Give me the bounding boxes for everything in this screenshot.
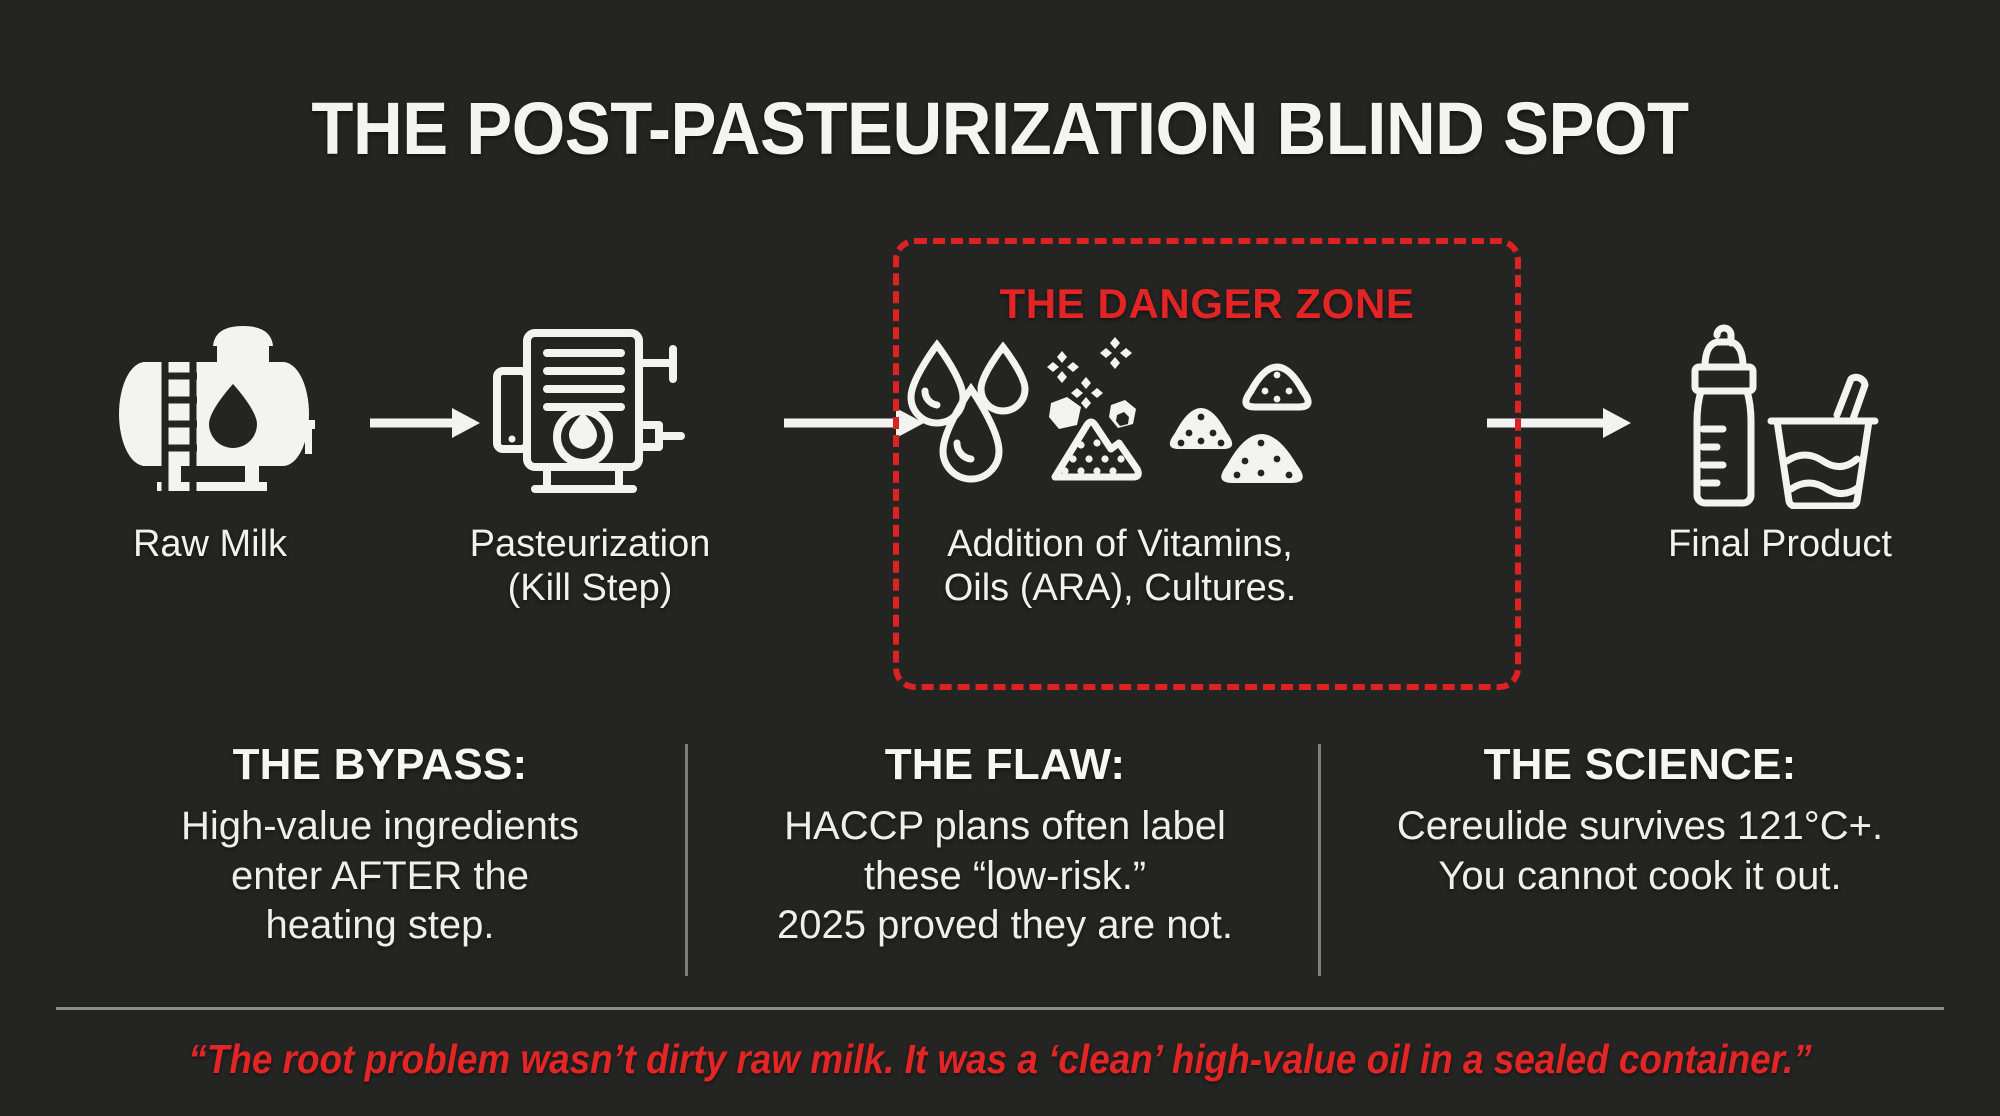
callout-divider	[685, 744, 688, 976]
callout-heading: THE SCIENCE:	[1340, 740, 1940, 790]
flow-step-label: Raw Milk	[60, 522, 360, 566]
pasteurizer-icon	[440, 314, 740, 504]
milk-tank-icon	[60, 314, 360, 504]
callout-body: Cereulide survives 121°C+. You cannot co…	[1340, 802, 1940, 901]
callout-science: THE SCIENCE: Cereulide survives 121°C+. …	[1340, 740, 1940, 901]
flow-step-raw-milk: Raw Milk	[60, 314, 360, 566]
footer-quote: “The root problem wasn’t dirty raw milk.…	[100, 1036, 1900, 1083]
danger-zone-title: THE DANGER ZONE	[893, 280, 1521, 328]
flow-step-final-product: Final Product	[1630, 314, 1930, 566]
flow-step-label: Final Product	[1630, 522, 1930, 566]
page-title: THE POST-PASTEURIZATION BLIND SPOT	[70, 86, 1930, 171]
callout-body: HACCP plans often label these “low-risk.…	[700, 802, 1310, 951]
flow-step-pasteurization: Pasteurization (Kill Step)	[440, 314, 740, 610]
callout-row: THE BYPASS: High-value ingredients enter…	[0, 740, 2000, 980]
callout-flaw: THE FLAW: HACCP plans often label these …	[700, 740, 1310, 951]
callout-bypass: THE BYPASS: High-value ingredients enter…	[80, 740, 680, 951]
infographic-canvas: THE POST-PASTEURIZATION BLIND SPOT	[0, 0, 2000, 1116]
callout-heading: THE BYPASS:	[80, 740, 680, 790]
flow-step-label: Pasteurization (Kill Step)	[440, 522, 740, 610]
footer-divider	[56, 1007, 1944, 1010]
callout-divider	[1318, 744, 1321, 976]
callout-body: High-value ingredients enter AFTER the h…	[80, 802, 680, 951]
callout-heading: THE FLAW:	[700, 740, 1310, 790]
baby-bottle-cup-icon	[1630, 314, 1930, 504]
